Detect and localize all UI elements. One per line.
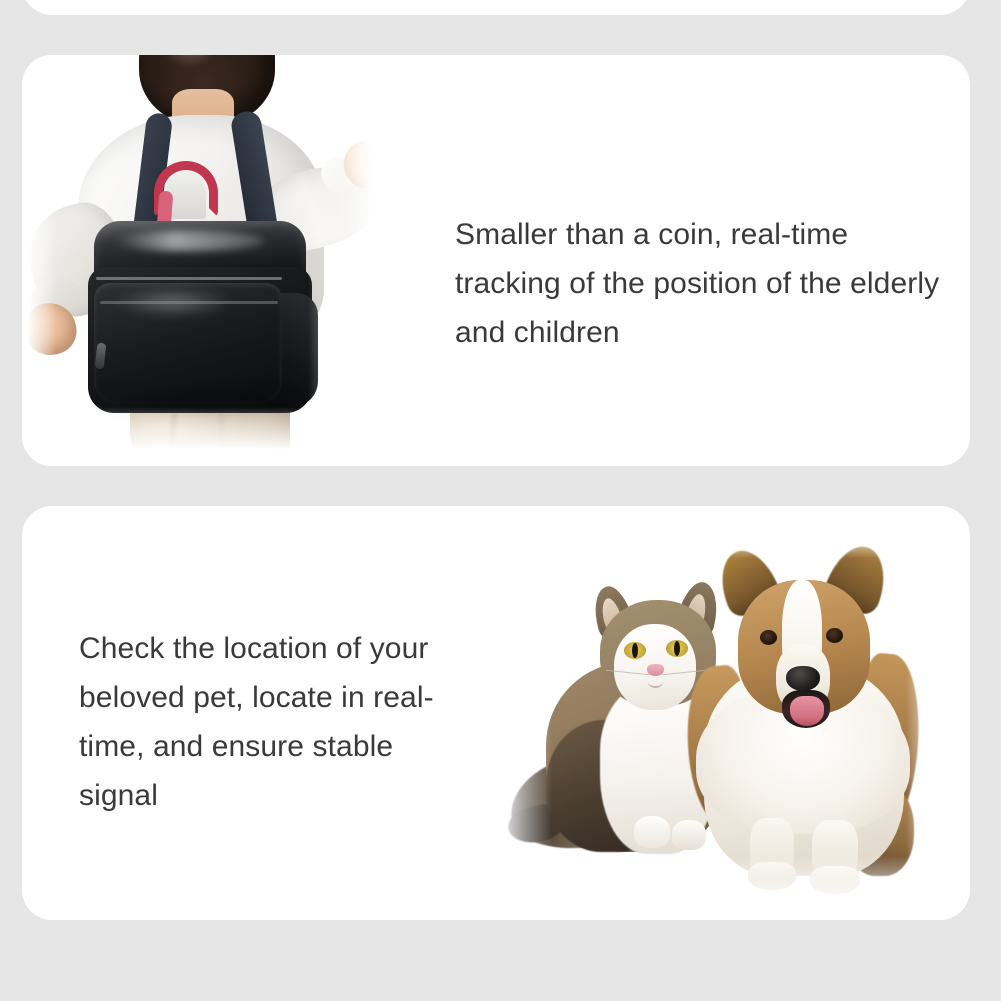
child-with-backpack-photo xyxy=(22,55,388,466)
photo-fade-left xyxy=(22,55,56,466)
photo-fade-bottom xyxy=(482,856,952,914)
cat-mouth xyxy=(648,676,663,688)
cat-paw xyxy=(634,816,670,848)
cat-right-pupil xyxy=(674,641,680,656)
backpack-zipper xyxy=(100,301,278,304)
dog-right-eye xyxy=(826,628,843,643)
backpack-top-highlight xyxy=(114,231,264,251)
previous-card-edge xyxy=(22,0,970,15)
backpack-zipper xyxy=(96,277,282,280)
cat-and-dog-photo xyxy=(482,524,952,914)
dog-nose xyxy=(786,666,820,691)
photo-fade-right xyxy=(308,55,388,466)
feature-text-tracking: Smaller than a coin, real-time tracking … xyxy=(455,210,945,357)
product-detail-page: Smaller than a coin, real-time tracking … xyxy=(0,0,1001,1001)
cat-nose xyxy=(647,664,664,676)
feature-card-tracking[interactable]: Smaller than a coin, real-time tracking … xyxy=(22,55,970,466)
photo-fade-bottom xyxy=(22,407,388,466)
feature-card-pet-location[interactable]: Check the location of your beloved pet, … xyxy=(22,506,970,920)
page-bottom-spacer xyxy=(0,920,1001,1001)
dog-left-eye xyxy=(760,630,777,645)
dog-tongue xyxy=(790,696,824,726)
feature-text-pet-location: Check the location of your beloved pet, … xyxy=(79,624,479,820)
cat-paw xyxy=(672,820,706,850)
photo-fade-top xyxy=(482,524,952,558)
cat-left-pupil xyxy=(632,643,638,658)
